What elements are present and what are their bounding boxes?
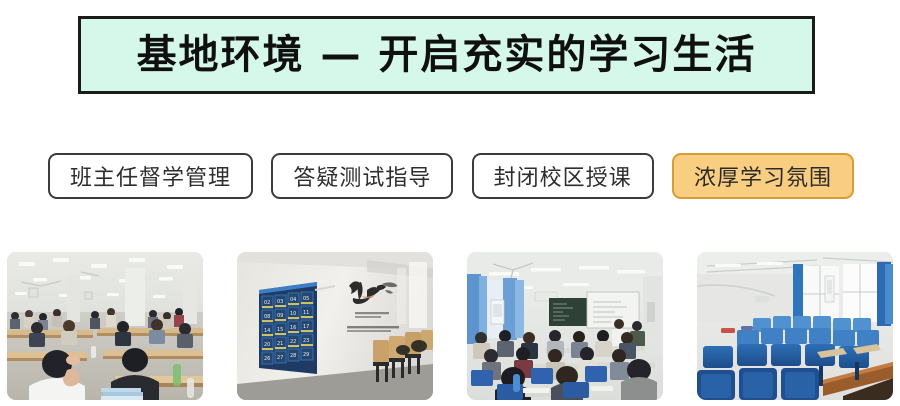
svg-text:20: 20 <box>264 342 270 348</box>
svg-text:05: 05 <box>303 296 309 302</box>
svg-text:08: 08 <box>264 314 270 320</box>
page-title-banner: 基地环境 — 开启充实的学习生活 <box>78 16 815 94</box>
svg-text:04: 04 <box>290 297 296 303</box>
svg-text:09: 09 <box>277 313 283 319</box>
feature-tag-row: 班主任督学管理 答疑测试指导 封闭校区授课 浓厚学习氛围 <box>48 153 854 199</box>
svg-text:26: 26 <box>264 356 270 362</box>
svg-text:23: 23 <box>303 338 309 344</box>
svg-text:11: 11 <box>303 310 309 316</box>
svg-text:21: 21 <box>277 341 283 347</box>
page-title: 基地环境 — 开启充实的学习生活 <box>137 35 757 75</box>
feature-tag-study-atmosphere[interactable]: 浓厚学习氛围 <box>672 153 854 199</box>
empty-lecture-hall-photo[interactable] <box>697 252 893 400</box>
phone-locker-wall-photo[interactable]: 02030405 08091011 14151617 20212223 2627… <box>237 252 433 400</box>
phone-locker-wall-image: 02030405 08091011 14151617 20212223 2627… <box>237 252 433 400</box>
svg-text:28: 28 <box>290 353 296 359</box>
classroom-lecture-image <box>467 252 663 400</box>
classroom-lecture-photo[interactable] <box>467 252 663 400</box>
svg-text:15: 15 <box>277 327 283 333</box>
svg-text:14: 14 <box>264 328 270 334</box>
svg-text:02: 02 <box>264 300 270 306</box>
svg-text:22: 22 <box>290 339 296 345</box>
feature-tag-label: 答疑测试指导 <box>293 160 431 192</box>
svg-text:29: 29 <box>303 352 309 358</box>
svg-text:27: 27 <box>277 355 283 361</box>
feature-tag-class-supervision[interactable]: 班主任督学管理 <box>48 153 253 199</box>
empty-lecture-hall-image <box>697 252 893 400</box>
feature-tag-label: 封闭校区授课 <box>494 160 632 192</box>
feature-tag-closed-campus[interactable]: 封闭校区授课 <box>472 153 654 199</box>
svg-text:17: 17 <box>303 324 309 330</box>
feature-tag-qa-testing[interactable]: 答疑测试指导 <box>271 153 453 199</box>
feature-tag-label: 浓厚学习氛围 <box>694 160 832 192</box>
self-study-hall-image <box>7 252 203 400</box>
self-study-hall-photo[interactable] <box>7 252 203 400</box>
feature-tag-label: 班主任督学管理 <box>70 160 231 192</box>
photo-gallery: 02030405 08091011 14151617 20212223 2627… <box>7 252 893 400</box>
svg-text:10: 10 <box>290 311 296 317</box>
svg-text:03: 03 <box>277 299 283 305</box>
svg-text:16: 16 <box>290 325 296 331</box>
